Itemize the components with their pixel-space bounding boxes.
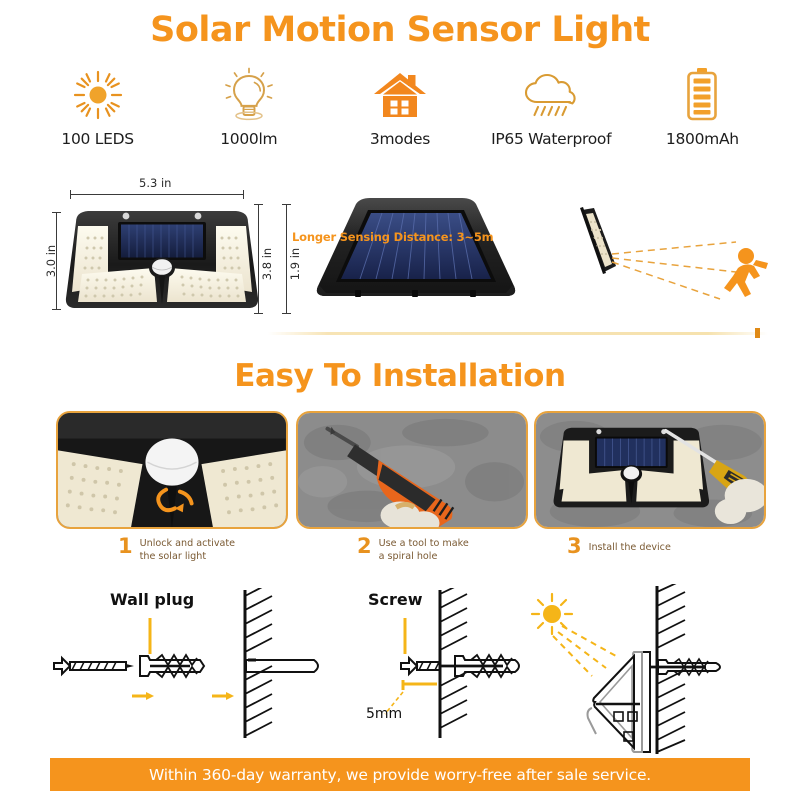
install-step: 3 Install the device	[567, 536, 671, 557]
dimension-depth-label: 3.8 in	[260, 235, 274, 293]
dimension-width-label: 5.3 in	[139, 176, 171, 190]
screw-label: Screw	[368, 590, 423, 609]
step-text: Unlock and activate the solar light	[140, 536, 235, 563]
rain-cloud-icon	[476, 64, 626, 126]
section-divider	[268, 332, 768, 335]
wall-plug-label: Wall plug	[110, 590, 194, 609]
feature-lumens: 1000lm	[174, 64, 324, 148]
step-number: 1	[118, 536, 133, 557]
install-card-unlock	[56, 411, 288, 529]
feature-label: 1800mAh	[627, 130, 777, 148]
feature-label: IP65 Waterproof	[476, 130, 626, 148]
install-step: 2 Use a tool to make a spiral hole	[357, 536, 469, 563]
warranty-banner: Within 360-day warranty, we provide worr…	[50, 758, 750, 791]
diagram-mounted-lamp	[520, 584, 780, 754]
mounting-diagrams: Wall plug	[0, 580, 800, 750]
step-number: 3	[567, 536, 582, 557]
lightbulb-icon	[174, 64, 324, 126]
card-image-unlock	[58, 413, 286, 529]
install-card-row	[0, 411, 800, 531]
feature-leds: 100 LEDS	[23, 64, 173, 148]
feature-waterproof: IP65 Waterproof	[476, 64, 626, 148]
feature-row: 100 LEDS	[0, 64, 800, 164]
feature-label: 100 LEDS	[23, 130, 173, 148]
house-icon	[325, 64, 475, 126]
install-steps: 1 Unlock and activate the solar light 2 …	[0, 536, 800, 576]
install-card-mount	[534, 411, 766, 529]
feature-battery: 1800mAh	[627, 64, 777, 148]
step-text: Use a tool to make a spiral hole	[379, 536, 469, 563]
card-image-mount	[536, 413, 764, 529]
page-title: Solar Motion Sensor Light	[0, 10, 800, 50]
sensing-distance-label: Longer Sensing Distance: 3~5m	[292, 230, 493, 244]
step-text: Install the device	[589, 536, 671, 555]
feature-label: 3modes	[325, 130, 475, 148]
gap-measure-label: 5mm	[366, 706, 402, 722]
install-step: 1 Unlock and activate the solar light	[118, 536, 235, 563]
sensing-diagram	[560, 194, 780, 324]
card-image-drill	[298, 413, 526, 529]
dimension-height-label: 3.0 in	[44, 232, 58, 290]
battery-icon	[627, 64, 777, 126]
infographic-page: Solar Motion Sensor Light	[0, 0, 800, 800]
install-section-title: Easy To Installation	[0, 358, 800, 394]
install-card-drill	[296, 411, 528, 529]
divider-tick	[755, 328, 760, 338]
feature-modes: 3modes	[325, 64, 475, 148]
diagram-wall-plug	[40, 588, 340, 738]
product-dimension-band: 5.3 in 3.0 in 3.8 in 1.9 in	[0, 172, 800, 327]
step-number: 2	[357, 536, 372, 557]
warranty-text: Within 360-day warranty, we provide worr…	[149, 766, 651, 784]
product-front-view	[62, 192, 262, 332]
product-top-view	[300, 194, 530, 319]
feature-label: 1000lm	[174, 130, 324, 148]
sun-icon	[23, 64, 173, 126]
